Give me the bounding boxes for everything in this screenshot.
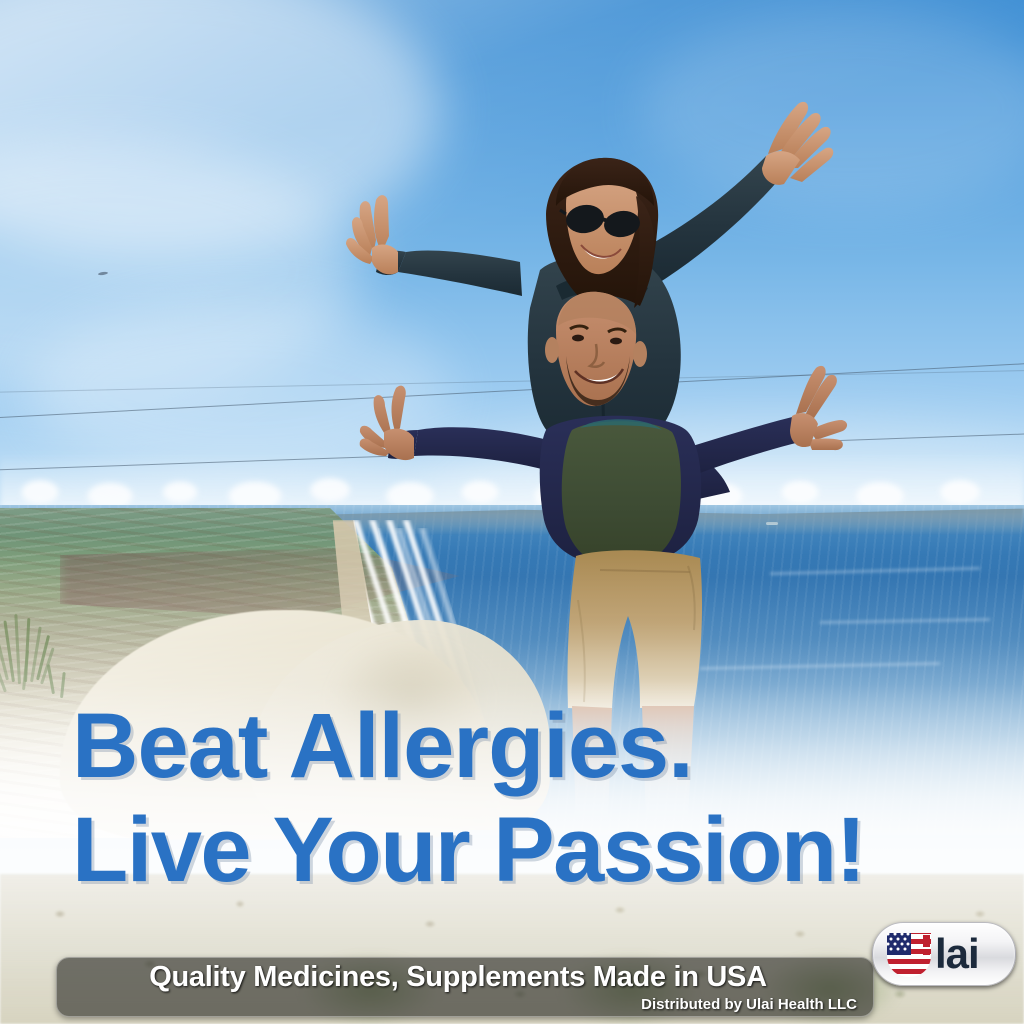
headline-line-1: Beat Allergies. [72, 694, 972, 798]
logo-wordmark: lai [935, 929, 979, 979]
headline: Beat Allergies. Live Your Passion! [72, 694, 972, 902]
banner-text-regular: Quality Medicines, Supplements [149, 961, 593, 993]
banner-main-text: Quality Medicines, Supplements Made in U… [57, 961, 859, 994]
headline-line-2: Live Your Passion! [72, 798, 972, 902]
ulai-logo: lai [872, 922, 1016, 986]
banner-text-made-in-usa: Made in USA [593, 961, 767, 993]
bottom-banner: Quality Medicines, Supplements Made in U… [56, 957, 874, 1017]
logo-inner: lai [873, 923, 1015, 985]
advertisement-image: Beat Allergies. Live Your Passion! Quali… [0, 0, 1024, 1024]
banner-distributor-text: Distributed by Ulai Health LLC [641, 996, 857, 1013]
